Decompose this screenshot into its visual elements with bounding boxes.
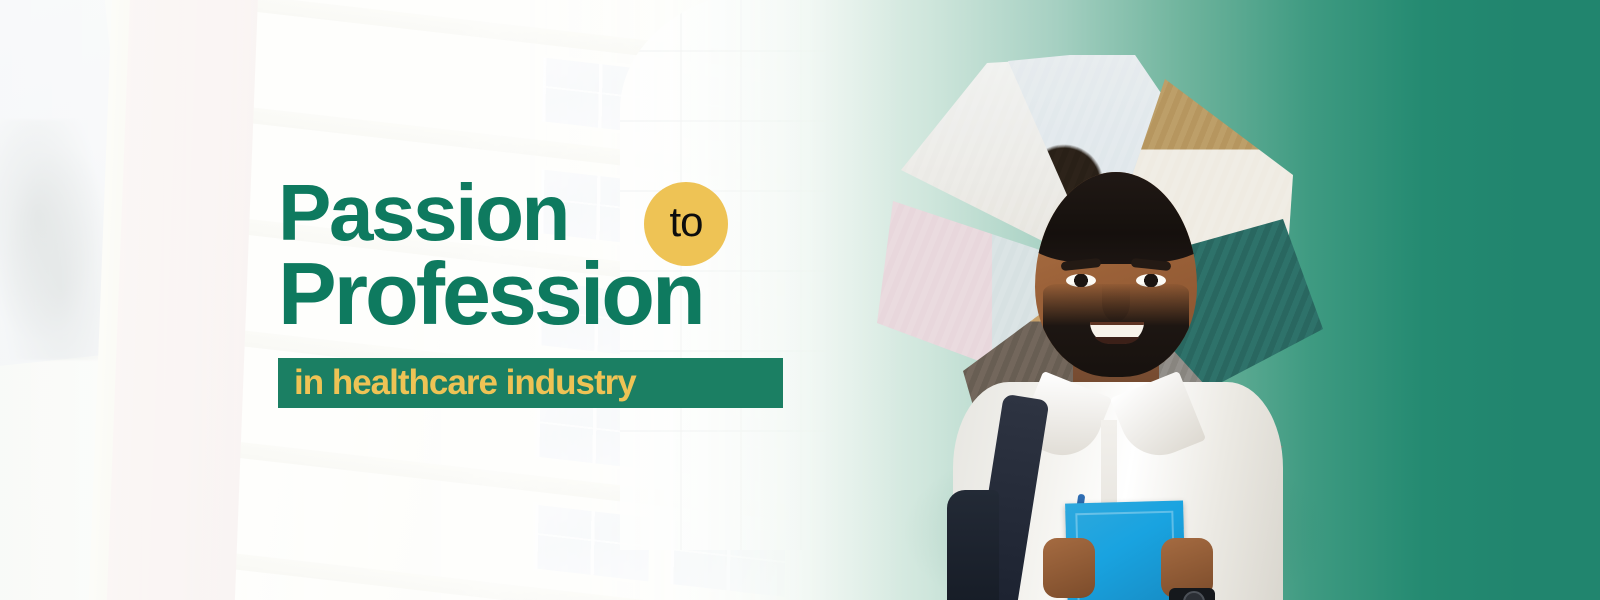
headline-block: Passion Profession <box>278 176 898 335</box>
figure-smile <box>1090 322 1144 344</box>
headline-line-1: Passion <box>278 176 898 250</box>
figure-hand-left <box>1043 538 1095 598</box>
to-badge: to <box>644 182 728 266</box>
headline-line-2: Profession <box>278 254 898 335</box>
hero-banner: Passion Profession to in healthcare indu… <box>0 0 1600 600</box>
backpack-body <box>947 490 999 600</box>
figure-head <box>1035 172 1197 377</box>
figure-hair <box>1035 172 1197 264</box>
subtitle-label: in healthcare industry <box>278 363 636 403</box>
wrist-watch <box>1169 588 1215 600</box>
smiling-student-figure <box>925 150 1305 600</box>
to-badge-label: to <box>669 201 702 243</box>
subtitle-bar: in healthcare industry <box>278 358 783 408</box>
